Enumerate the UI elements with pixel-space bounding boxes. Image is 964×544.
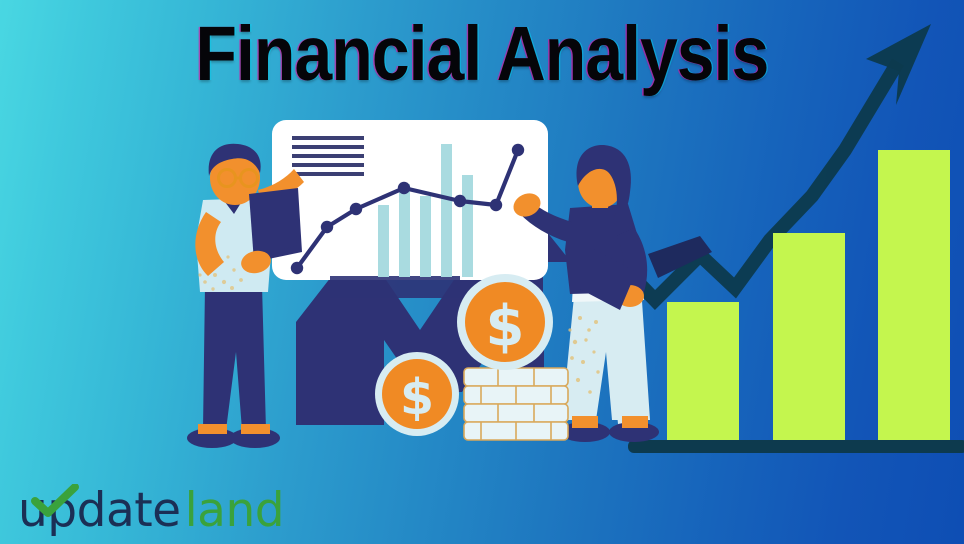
svg-text:$: $: [486, 294, 525, 359]
dollar-coin-large: $: [457, 274, 553, 370]
analyst-man-figure: [187, 144, 304, 448]
growth-bar-2: [773, 233, 845, 443]
dollar-coin-small: $: [375, 352, 459, 436]
logo-word-land: land: [181, 487, 284, 534]
updateland-logo[interactable]: update land: [14, 487, 284, 534]
dashboard-panel: [272, 120, 548, 298]
coin-stack-icon: [464, 368, 568, 440]
svg-text:$: $: [400, 369, 434, 426]
page-title: Financial Analysis: [58, 6, 906, 102]
check-icon: [31, 484, 79, 518]
growth-bar-3: [878, 150, 950, 443]
growth-baseline: [628, 440, 964, 453]
financial-analysis-banner: $ $ Financial Analysis update land: [0, 0, 964, 544]
growth-bar-1: [667, 302, 739, 443]
